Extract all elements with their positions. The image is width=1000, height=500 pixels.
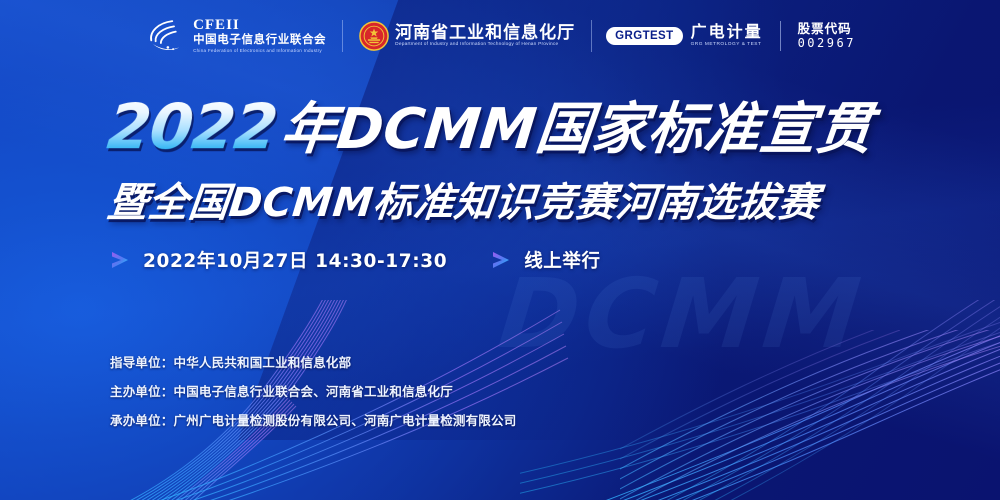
dcmm-watermark: DCMM [494,258,871,370]
stock-code-block: 股票代码 002967 [798,22,856,51]
sponsor-logo-bar: CFEII 中国电子信息行业联合会 China Federation of El… [0,18,1000,54]
subtitle: 暨全国DCMM标准知识竞赛河南选拔赛 [105,170,951,228]
grgtest-name-cn: 广电计量 [691,25,763,41]
main-title: 2022 年DCMM国家标准宣贯 [108,96,948,158]
chevron-right-icon-datetime [110,249,132,271]
flowing-lines-bottom-right [520,300,1000,500]
stock-number: 002967 [798,36,856,50]
cfeii-name-cn: 中国电子信息行业联合会 [193,35,326,47]
logo-cfeii: CFEII 中国电子信息行业联合会 China Federation of El… [130,18,342,54]
cfeii-acronym: CFEII [193,18,326,33]
grgtest-badge: GRGTEST [606,27,682,45]
organizer-host: 主办单位：中国电子信息行业联合会、河南省工业和信息化厅 [110,381,516,400]
event-meta-row: 2022年10月27日 14:30-17:30 线上举行 [110,247,601,273]
stock-divider [780,21,781,51]
flowing-lines-right-edge [620,330,1000,500]
henan-name-cn: 河南省工业和信息化厅 [395,24,575,41]
title-year: 2022 [105,96,284,158]
organizer-guidance: 指导单位：中华人民共和国工业和信息化部 [110,352,516,371]
event-venue: 线上举行 [524,247,600,273]
cfeii-swoosh-icon [146,18,188,54]
logo-henan-miit: 河南省工业和信息化厅 Department of Industry and In… [343,21,591,51]
organizer-undertaker: 承办单位：广州广电计量检测股份有限公司、河南广电计量检测有限公司 [110,410,516,429]
organizer-list: 指导单位：中华人民共和国工业和信息化部 主办单位：中国电子信息行业联合会、河南省… [110,352,516,429]
cfeii-name-en: China Federation of Electronics and Info… [193,49,326,54]
title-main-text: 年DCMM国家标准宣贯 [278,102,875,158]
event-datetime: 2022年10月27日 14:30-17:30 [143,247,447,273]
henan-name-en: Department of Industry and Information T… [395,43,575,48]
logo-grgtest: GRGTEST 广电计量 GRG METROLOGY & TEST 股票代码 0… [592,21,870,51]
stock-label: 股票代码 [798,22,856,37]
grgtest-name-en: GRG METROLOGY & TEST [691,43,763,48]
event-poster: DCMM [0,0,1000,500]
chevron-right-icon-venue [491,249,513,271]
title-block: 2022 年DCMM国家标准宣贯 暨全国DCMM标准知识竞赛河南选拔赛 [108,96,948,228]
national-emblem-icon [359,21,389,51]
